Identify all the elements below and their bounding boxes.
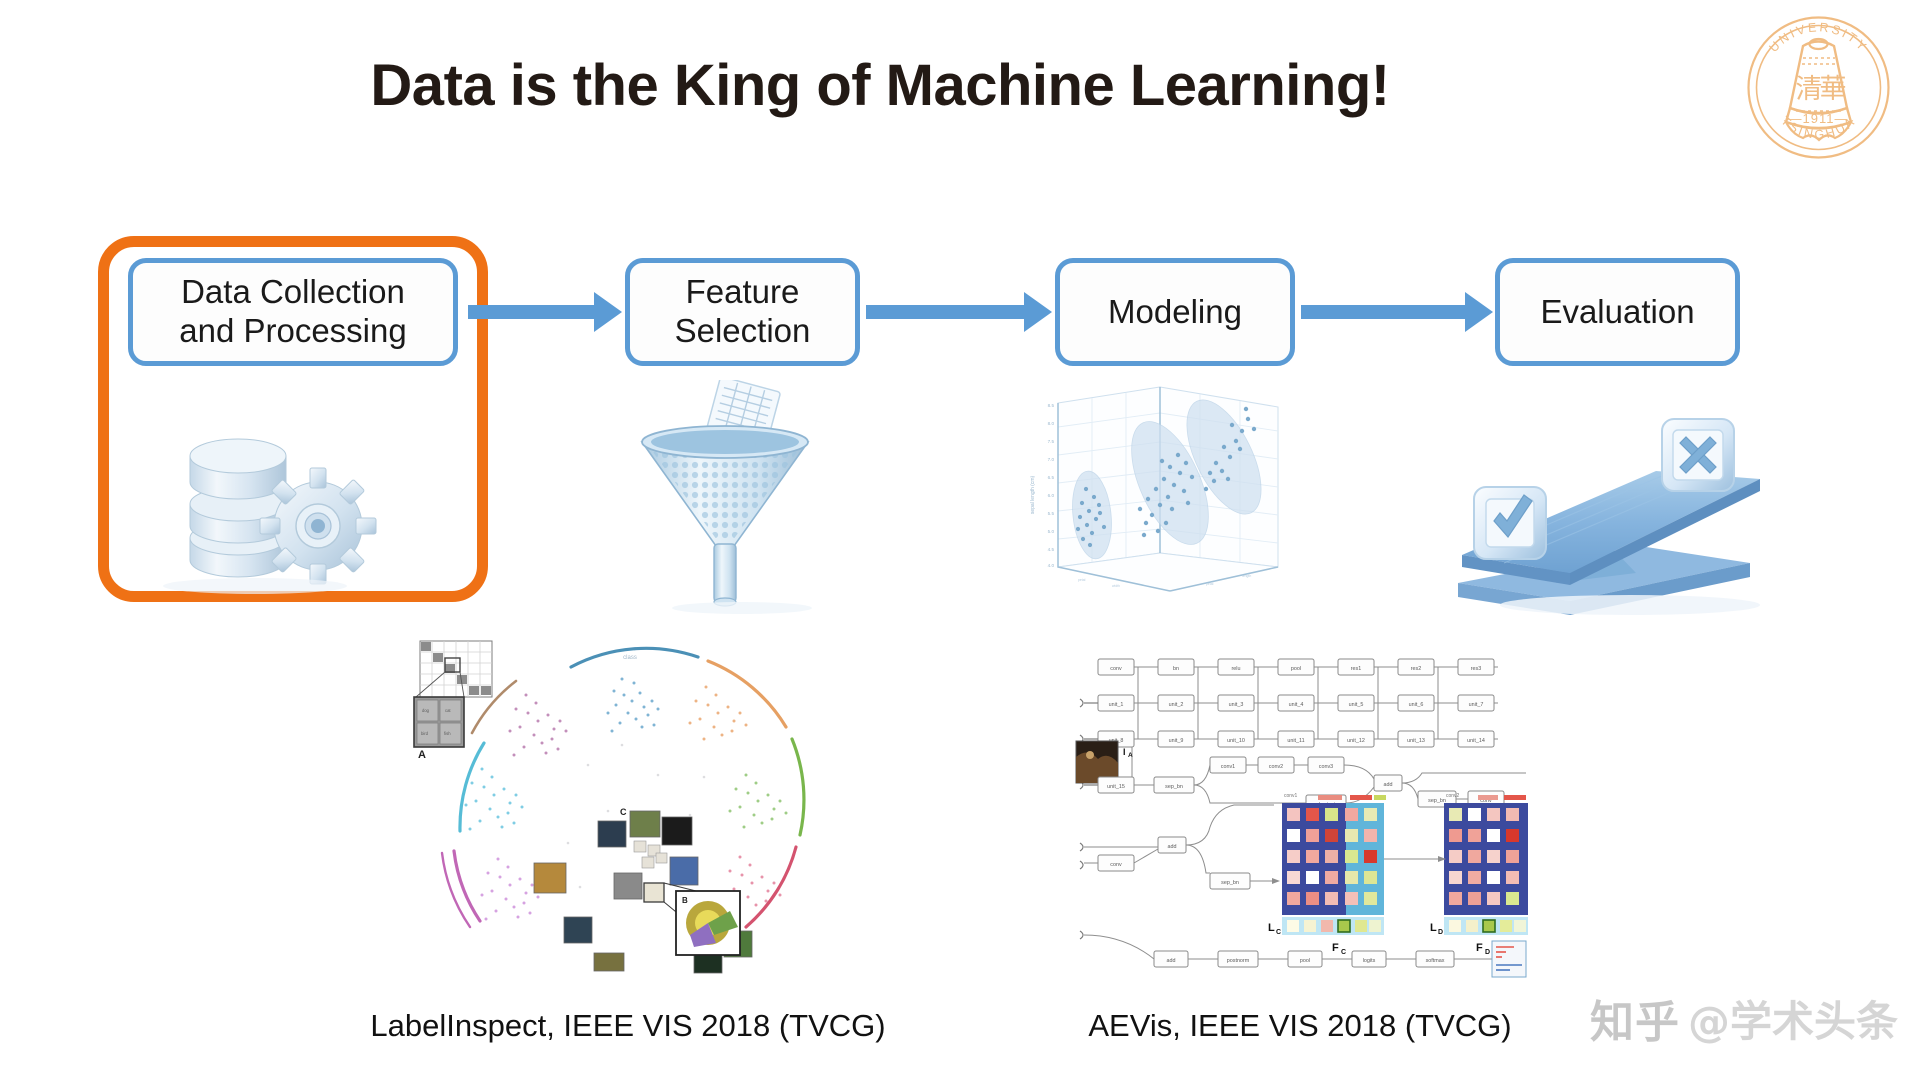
svg-text:bn: bn — [1173, 666, 1179, 672]
svg-text:width: width — [1112, 584, 1120, 588]
svg-text:unit_15: unit_15 — [1107, 784, 1125, 790]
svg-text:D: D — [1485, 949, 1490, 956]
svg-text:conv1: conv1 — [1221, 764, 1235, 770]
svg-text:softmax: softmax — [1426, 958, 1445, 964]
svg-text:sepal length (cm): sepal length (cm) — [1030, 475, 1036, 514]
svg-text:class: class — [623, 655, 637, 661]
figure-caption-aevis: AEVis, IEEE VIS 2018 (TVCG) — [940, 1008, 1660, 1044]
svg-text:unit_1: unit_1 — [1109, 702, 1124, 708]
svg-text:L: L — [1430, 922, 1437, 934]
svg-text:dog: dog — [422, 708, 430, 713]
zhihu-logo-text: 知乎 — [1590, 986, 1680, 1050]
svg-text:res3: res3 — [1471, 666, 1482, 672]
svg-text:logits: logits — [1363, 958, 1376, 964]
svg-text:add: add — [1167, 958, 1176, 964]
svg-text:bird: bird — [421, 731, 429, 736]
svg-text:I: I — [1123, 747, 1126, 757]
svg-text:add: add — [1168, 844, 1177, 850]
svg-text:postnorm: postnorm — [1227, 958, 1250, 964]
svg-text:華: 華 — [1820, 74, 1847, 105]
zhihu-watermark: 知乎 @学术头条 — [1590, 988, 1898, 1048]
svg-text:4.5: 4.5 — [1048, 547, 1055, 552]
pipeline-step-feature-selection[interactable]: Feature Selection — [625, 258, 860, 366]
svg-text:sep_bn: sep_bn — [1221, 880, 1239, 886]
seesaw-balance-icon — [1450, 405, 1770, 620]
zhihu-handle: @学术头条 — [1688, 988, 1898, 1049]
svg-text:pool: pool — [1300, 958, 1310, 964]
svg-text:F: F — [1332, 942, 1339, 954]
svg-text:conv: conv — [1110, 862, 1122, 868]
figure-caption-labelinspect: LabelInspect, IEEE VIS 2018 (TVCG) — [268, 1008, 988, 1044]
svg-text:petal: petal — [1078, 578, 1086, 582]
tsinghua-university-logo-icon: 清 華 —1911— UNIVERSITY TSINGHUA — [1741, 10, 1896, 165]
pipeline-arrow-2 — [866, 305, 1026, 319]
svg-text:C: C — [620, 807, 627, 817]
svg-text:5.0: 5.0 — [1048, 529, 1055, 534]
svg-text:7.5: 7.5 — [1048, 439, 1055, 444]
svg-text:5.5: 5.5 — [1048, 511, 1055, 516]
svg-text:fish: fish — [444, 731, 451, 736]
svg-text:4.0: 4.0 — [1048, 563, 1055, 568]
page-title: Data is the King of Machine Learning! — [0, 52, 1760, 119]
pipeline-step-label: Feature Selection — [675, 273, 811, 351]
pipeline-step-evaluation[interactable]: Evaluation — [1495, 258, 1740, 366]
svg-text:res2: res2 — [1411, 666, 1422, 672]
aevis-figure: convbnrelu poolres1res2res3 unit_1unit_2… — [1068, 645, 1533, 985]
svg-text:8.0: 8.0 — [1048, 421, 1055, 426]
pipeline-arrow-3 — [1301, 305, 1467, 319]
svg-text:unit_12: unit_12 — [1347, 738, 1365, 744]
svg-text:sep_bn: sep_bn — [1428, 798, 1446, 804]
svg-text:6.5: 6.5 — [1048, 475, 1055, 480]
svg-text:B: B — [682, 896, 688, 905]
svg-text:conv2: conv2 — [1446, 793, 1460, 799]
svg-text:conv3: conv3 — [1319, 764, 1333, 770]
svg-text:sep_bn: sep_bn — [1165, 784, 1183, 790]
labelinspect-figure: dogcat birdfish A class — [408, 635, 848, 975]
svg-text:L: L — [1268, 922, 1275, 934]
slide-canvas: Data is the King of Machine Learning! 清 … — [0, 0, 1920, 1080]
svg-text:conv: conv — [1110, 666, 1122, 672]
svg-text:unit_4: unit_4 — [1289, 702, 1304, 708]
pipeline-step-label: Data Collection and Processing — [179, 273, 406, 351]
svg-text:6.0: 6.0 — [1048, 493, 1055, 498]
svg-text:unit_13: unit_13 — [1407, 738, 1425, 744]
svg-text:unit_9: unit_9 — [1169, 738, 1184, 744]
svg-text:conv1: conv1 — [1284, 793, 1298, 799]
svg-text:F: F — [1476, 942, 1483, 954]
pipeline-step-data-collection[interactable]: Data Collection and Processing — [128, 258, 458, 366]
svg-text:A: A — [418, 749, 426, 761]
svg-text:D: D — [1438, 929, 1443, 936]
svg-text:relu: relu — [1232, 666, 1241, 672]
funnel-icon — [630, 380, 820, 615]
svg-text:unit_10: unit_10 — [1227, 738, 1245, 744]
svg-text:清: 清 — [1796, 74, 1823, 105]
svg-text:7.0: 7.0 — [1048, 457, 1055, 462]
svg-text:add: add — [1384, 782, 1393, 788]
pipeline-arrow-1 — [468, 305, 596, 319]
svg-text:A: A — [1128, 752, 1133, 759]
svg-text:pool: pool — [1291, 666, 1301, 672]
scatter-3d-icon: 8.58.07.5 7.06.56.0 5.55.04.5 4.0 sepal … — [1020, 385, 1295, 605]
pipeline-step-label: Evaluation — [1540, 293, 1694, 332]
svg-text:unit_5: unit_5 — [1349, 702, 1364, 708]
svg-text:unit_11: unit_11 — [1287, 738, 1304, 744]
svg-text:C: C — [1341, 949, 1346, 956]
svg-text:C: C — [1276, 929, 1281, 936]
svg-text:cat: cat — [445, 708, 451, 713]
svg-text:petal: petal — [1206, 582, 1214, 586]
pipeline-step-modeling[interactable]: Modeling — [1055, 258, 1295, 366]
svg-text:unit_2: unit_2 — [1169, 702, 1184, 708]
svg-text:res1: res1 — [1351, 666, 1362, 672]
svg-text:unit_14: unit_14 — [1467, 738, 1485, 744]
pipeline-step-label: Modeling — [1108, 293, 1242, 332]
svg-text:unit_3: unit_3 — [1229, 702, 1244, 708]
svg-text:unit_7: unit_7 — [1469, 702, 1484, 708]
svg-text:unit_6: unit_6 — [1409, 702, 1424, 708]
svg-text:length: length — [1242, 574, 1251, 578]
svg-text:conv2: conv2 — [1269, 764, 1283, 770]
svg-text:8.5: 8.5 — [1048, 403, 1055, 408]
database-gear-icon — [160, 398, 410, 598]
